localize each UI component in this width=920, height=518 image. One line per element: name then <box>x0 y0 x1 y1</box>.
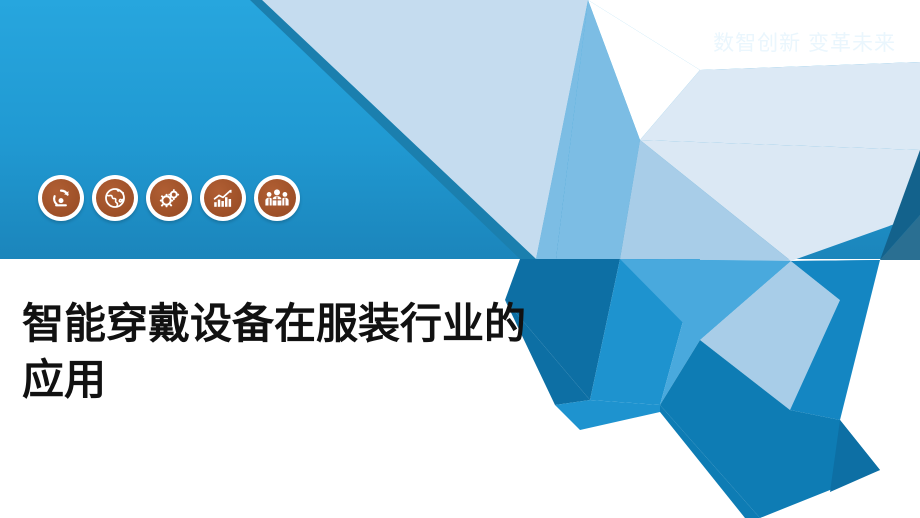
icon-badge-people[interactable] <box>254 175 300 221</box>
title-line-2: 应用 <box>22 352 562 408</box>
gears-icon <box>150 179 188 217</box>
globe-icon <box>96 179 134 217</box>
recycle-arrow-icon <box>42 179 80 217</box>
people-group-icon <box>258 179 296 217</box>
icon-badge-growth-chart[interactable] <box>200 175 246 221</box>
title-line-1: 智能穿戴设备在服装行业的 <box>22 296 562 352</box>
presentation-title-slide: 数智创新 变革未来 <box>0 0 920 518</box>
icon-badge-gears[interactable] <box>146 175 192 221</box>
icon-badge-globe[interactable] <box>92 175 138 221</box>
icon-badge-recycle[interactable] <box>38 175 84 221</box>
tagline-text: 数智创新 变革未来 <box>713 27 896 57</box>
page-title: 智能穿戴设备在服装行业的 应用 <box>22 296 562 408</box>
bar-chart-growth-icon <box>204 179 242 217</box>
icon-row <box>38 175 300 221</box>
low-poly-triangle-graphic <box>0 0 920 518</box>
